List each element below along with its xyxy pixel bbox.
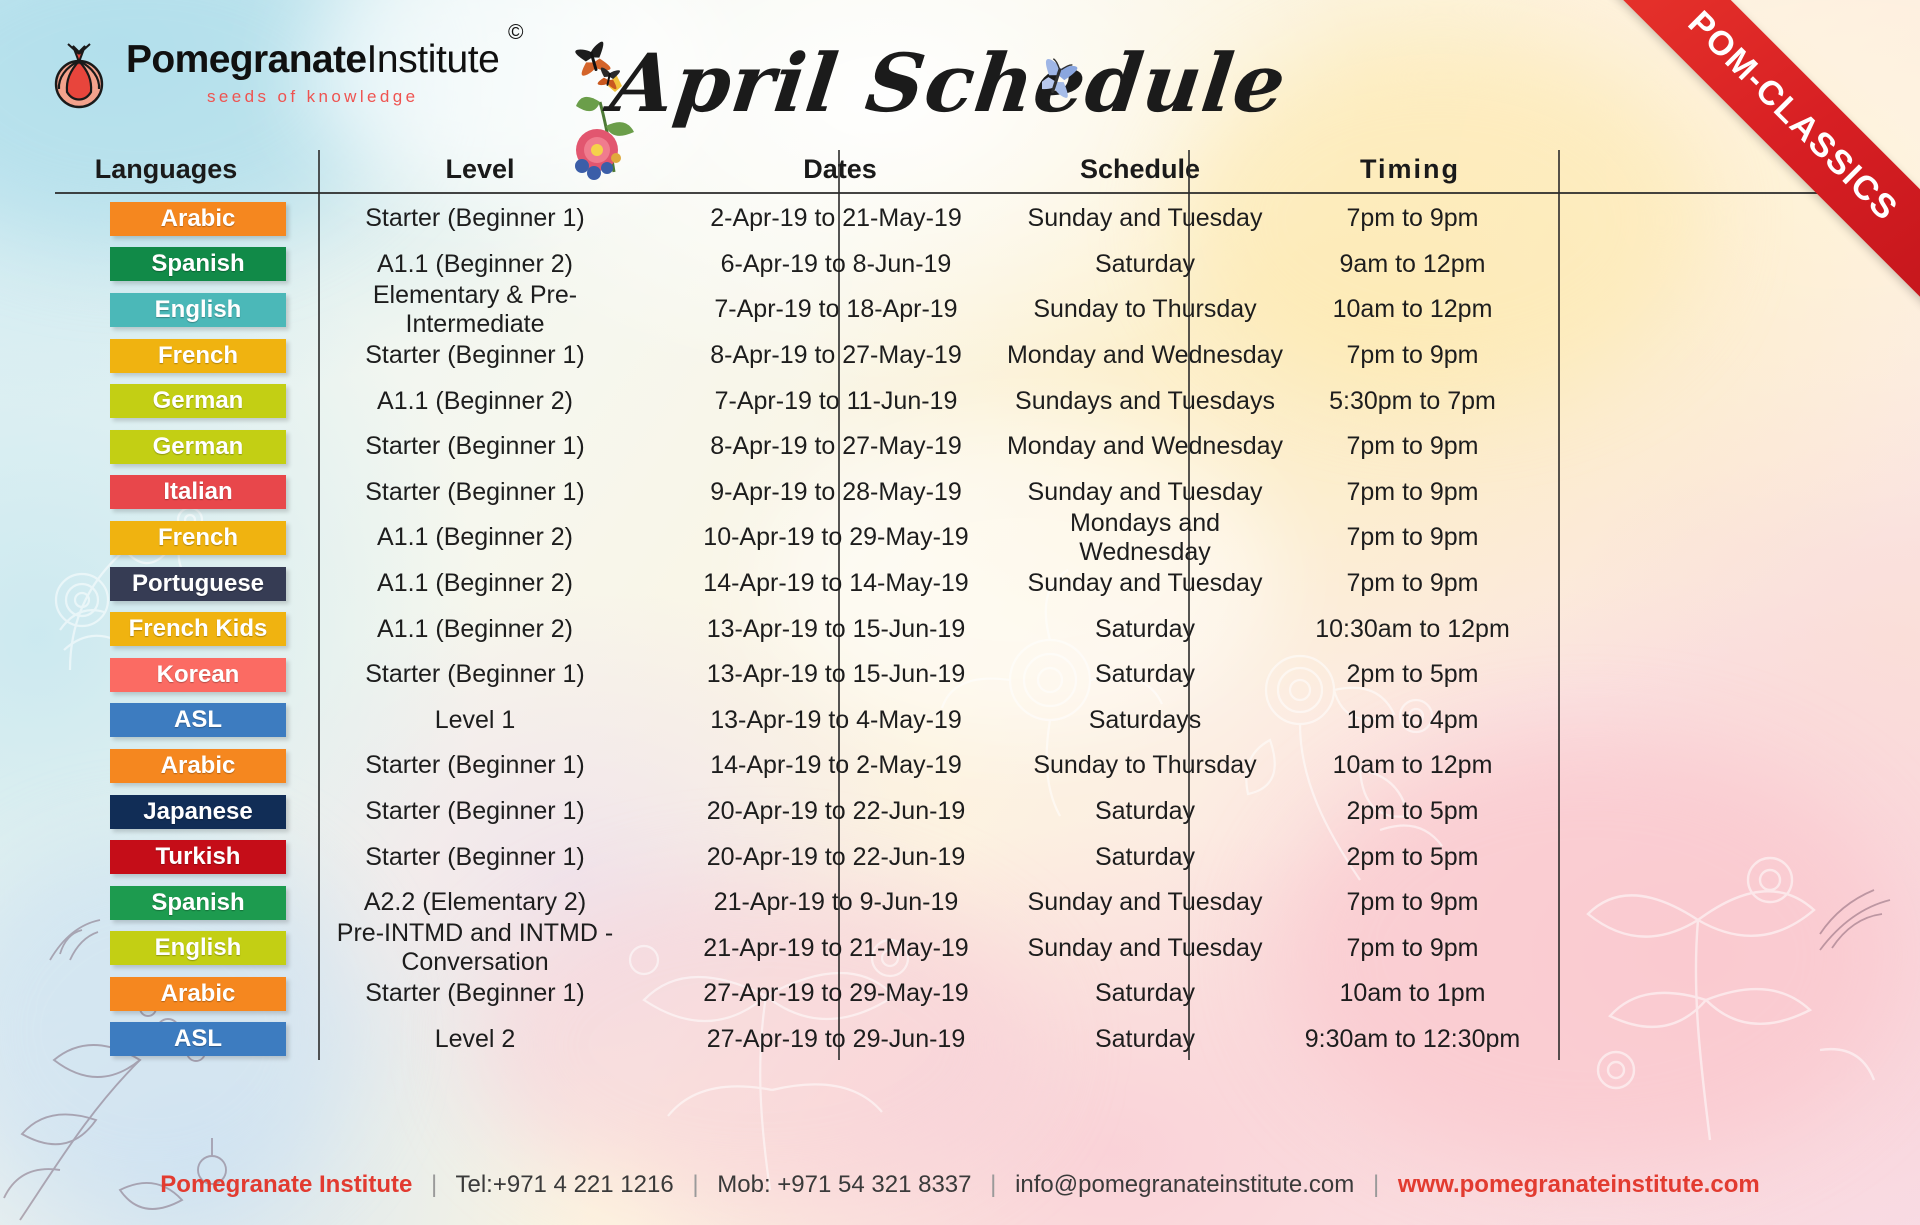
language-badge[interactable]: ASL xyxy=(110,1022,286,1056)
brand-tagline: seeds of knowledge xyxy=(126,87,499,107)
language-badge[interactable]: Turkish xyxy=(110,840,286,874)
title-area: April Schedule xyxy=(560,10,1080,180)
language-badge[interactable]: French Kids xyxy=(110,612,286,646)
dates-cell: 21-Apr-19 to 21-May-19 xyxy=(680,934,992,963)
level-cell: Pre-INTMD and INTMD - Conversation xyxy=(315,919,635,977)
language-cell: German xyxy=(110,384,286,418)
dates-cell: 21-Apr-19 to 9-Jun-19 xyxy=(680,888,992,917)
language-cell: French xyxy=(110,339,286,373)
table-row: FrenchA1.1 (Beginner 2)10-Apr-19 to 29-M… xyxy=(0,515,1920,561)
schedule-cell: Saturday xyxy=(1005,615,1285,644)
ribbon-label: POM-CLASSICS xyxy=(1680,3,1905,228)
schedule-cell: Sunday and Tuesday xyxy=(1005,569,1285,598)
timing-cell: 7pm to 9pm xyxy=(1290,341,1535,370)
dates-cell: 20-Apr-19 to 22-Jun-19 xyxy=(680,797,992,826)
language-badge[interactable]: French xyxy=(110,521,286,555)
footer-separator: | xyxy=(1361,1171,1391,1198)
timing-cell: 2pm to 5pm xyxy=(1290,660,1535,689)
table-row: ArabicStarter (Beginner 1)27-Apr-19 to 2… xyxy=(0,971,1920,1017)
level-cell: Starter (Beginner 1) xyxy=(315,843,635,872)
timing-cell: 7pm to 9pm xyxy=(1290,204,1535,233)
language-cell: French Kids xyxy=(110,612,286,646)
language-badge[interactable]: English xyxy=(110,931,286,965)
table-row: PortugueseA1.1 (Beginner 2)14-Apr-19 to … xyxy=(0,561,1920,607)
language-badge[interactable]: Korean xyxy=(110,658,286,692)
table-row: ItalianStarter (Beginner 1)9-Apr-19 to 2… xyxy=(0,470,1920,516)
language-cell: German xyxy=(110,430,286,464)
level-cell: Level 1 xyxy=(315,706,635,735)
language-cell: ASL xyxy=(110,703,286,737)
footer-separator: | xyxy=(680,1171,710,1198)
footer-website[interactable]: www.pomegranateinstitute.com xyxy=(1398,1171,1760,1198)
table-row: KoreanStarter (Beginner 1)13-Apr-19 to 1… xyxy=(0,652,1920,698)
footer-email[interactable]: info@pomegranateinstitute.com xyxy=(1015,1171,1354,1198)
language-badge[interactable]: Spanish xyxy=(110,886,286,920)
timing-cell: 10:30am to 12pm xyxy=(1290,615,1535,644)
dates-cell: 13-Apr-19 to 4-May-19 xyxy=(680,706,992,735)
butterfly-icon xyxy=(1042,52,1098,113)
footer-separator: | xyxy=(419,1171,449,1198)
language-badge[interactable]: French xyxy=(110,339,286,373)
language-badge[interactable]: Spanish xyxy=(110,247,286,281)
level-cell: Starter (Beginner 1) xyxy=(315,432,635,461)
dates-cell: 13-Apr-19 to 15-Jun-19 xyxy=(680,660,992,689)
language-cell: Arabic xyxy=(110,202,286,236)
dates-cell: 6-Apr-19 to 8-Jun-19 xyxy=(680,250,992,279)
schedule-cell: Saturday xyxy=(1005,797,1285,826)
dates-cell: 9-Apr-19 to 28-May-19 xyxy=(680,478,992,507)
timing-cell: 7pm to 9pm xyxy=(1290,934,1535,963)
timing-cell: 10am to 1pm xyxy=(1290,979,1535,1008)
table-row: ArabicStarter (Beginner 1)14-Apr-19 to 2… xyxy=(0,743,1920,789)
schedule-cell: Sunday and Tuesday xyxy=(1005,888,1285,917)
footer-contact-bar: Pomegranate Institute | Tel:+971 4 221 1… xyxy=(0,1171,1920,1199)
dates-cell: 2-Apr-19 to 21-May-19 xyxy=(680,204,992,233)
dates-cell: 13-Apr-19 to 15-Jun-19 xyxy=(680,615,992,644)
language-cell: Arabic xyxy=(110,749,286,783)
schedule-cell: Sundays and Tuesdays xyxy=(1005,387,1285,416)
dates-cell: 20-Apr-19 to 22-Jun-19 xyxy=(680,843,992,872)
level-cell: Starter (Beginner 1) xyxy=(315,660,635,689)
level-cell: Starter (Beginner 1) xyxy=(315,478,635,507)
schedule-cell: Saturday xyxy=(1005,843,1285,872)
dates-cell: 8-Apr-19 to 27-May-19 xyxy=(680,432,992,461)
language-badge[interactable]: Japanese xyxy=(110,795,286,829)
schedule-cell: Sunday and Tuesday xyxy=(1005,204,1285,233)
page-title: April Schedule xyxy=(606,36,1291,130)
timing-cell: 7pm to 9pm xyxy=(1290,432,1535,461)
timing-cell: 1pm to 4pm xyxy=(1290,706,1535,735)
language-cell: Arabic xyxy=(110,977,286,1011)
dates-cell: 14-Apr-19 to 14-May-19 xyxy=(680,569,992,598)
timing-cell: 10am to 12pm xyxy=(1290,295,1535,324)
language-cell: Spanish xyxy=(110,886,286,920)
level-cell: A1.1 (Beginner 2) xyxy=(315,523,635,552)
timing-cell: 10am to 12pm xyxy=(1290,751,1535,780)
schedule-cell: Saturdays xyxy=(1005,706,1285,735)
language-cell: Italian xyxy=(110,475,286,509)
language-cell: Portuguese xyxy=(110,567,286,601)
brand-name-light: Institute xyxy=(366,38,499,81)
table-row: GermanA1.1 (Beginner 2)7-Apr-19 to 11-Ju… xyxy=(0,378,1920,424)
schedule-cell: Saturday xyxy=(1005,250,1285,279)
brand-name-bold: Pomegranate xyxy=(126,38,366,81)
table-row: EnglishPre-INTMD and INTMD - Conversatio… xyxy=(0,926,1920,972)
dates-cell: 27-Apr-19 to 29-May-19 xyxy=(680,979,992,1008)
dates-cell: 7-Apr-19 to 11-Jun-19 xyxy=(680,387,992,416)
timing-cell: 2pm to 5pm xyxy=(1290,843,1535,872)
language-badge[interactable]: ASL xyxy=(110,703,286,737)
language-cell: Japanese xyxy=(110,795,286,829)
schedule-cell: Sunday and Tuesday xyxy=(1005,934,1285,963)
dates-cell: 8-Apr-19 to 27-May-19 xyxy=(680,341,992,370)
language-badge[interactable]: German xyxy=(110,430,286,464)
level-cell: Elementary & Pre-Intermediate xyxy=(315,281,635,339)
brand-logo: PomegranateInstitute © seeds of knowledg… xyxy=(46,36,499,110)
schedule-cell: Monday and Wednesday xyxy=(1005,341,1285,370)
footer-brand: Pomegranate Institute xyxy=(160,1171,412,1198)
timing-cell: 9:30am to 12:30pm xyxy=(1290,1025,1535,1054)
language-cell: English xyxy=(110,931,286,965)
level-cell: A2.2 (Elementary 2) xyxy=(315,888,635,917)
level-cell: A1.1 (Beginner 2) xyxy=(315,387,635,416)
table-row: ASLLevel 113-Apr-19 to 4-May-19Saturdays… xyxy=(0,698,1920,744)
table-row: JapaneseStarter (Beginner 1)20-Apr-19 to… xyxy=(0,789,1920,835)
level-cell: A1.1 (Beginner 2) xyxy=(315,250,635,279)
timing-cell: 9am to 12pm xyxy=(1290,250,1535,279)
language-cell: English xyxy=(110,293,286,327)
schedule-cell: Saturday xyxy=(1005,1025,1285,1054)
language-badge[interactable]: Arabic xyxy=(110,977,286,1011)
schedule-cell: Sunday and Tuesday xyxy=(1005,478,1285,507)
timing-cell: 5:30pm to 7pm xyxy=(1290,387,1535,416)
footer-mobile[interactable]: Mob: +971 54 321 8337 xyxy=(717,1171,971,1198)
level-cell: Starter (Beginner 1) xyxy=(315,797,635,826)
language-badge[interactable]: Portuguese xyxy=(110,567,286,601)
level-cell: A1.1 (Beginner 2) xyxy=(315,569,635,598)
schedule-cell: Mondays and Wednesday xyxy=(1005,509,1285,567)
timing-cell: 2pm to 5pm xyxy=(1290,797,1535,826)
table-row: French KidsA1.1 (Beginner 2)13-Apr-19 to… xyxy=(0,606,1920,652)
table-row: SpanishA2.2 (Elementary 2)21-Apr-19 to 9… xyxy=(0,880,1920,926)
schedule-cell: Saturday xyxy=(1005,979,1285,1008)
schedule-cell: Saturday xyxy=(1005,660,1285,689)
level-cell: Level 2 xyxy=(315,1025,635,1054)
level-cell: Starter (Beginner 1) xyxy=(315,204,635,233)
dates-cell: 14-Apr-19 to 2-May-19 xyxy=(680,751,992,780)
language-badge[interactable]: Arabic xyxy=(110,749,286,783)
table-row: ASLLevel 227-Apr-19 to 29-Jun-19Saturday… xyxy=(0,1017,1920,1063)
language-badge[interactable]: English xyxy=(110,293,286,327)
language-cell: French xyxy=(110,521,286,555)
level-cell: A1.1 (Beginner 2) xyxy=(315,615,635,644)
language-cell: Spanish xyxy=(110,247,286,281)
timing-cell: 7pm to 9pm xyxy=(1290,888,1535,917)
level-cell: Starter (Beginner 1) xyxy=(315,751,635,780)
language-badge[interactable]: Italian xyxy=(110,475,286,509)
language-badge[interactable]: Arabic xyxy=(110,202,286,236)
language-badge[interactable]: German xyxy=(110,384,286,418)
timing-cell: 7pm to 9pm xyxy=(1290,523,1535,552)
footer-tel[interactable]: Tel:+971 4 221 1216 xyxy=(455,1171,673,1198)
pomegranate-icon xyxy=(46,40,112,110)
dates-cell: 27-Apr-19 to 29-Jun-19 xyxy=(680,1025,992,1054)
level-cell: Starter (Beginner 1) xyxy=(315,979,635,1008)
timing-cell: 7pm to 9pm xyxy=(1290,569,1535,598)
schedule-cell: Monday and Wednesday xyxy=(1005,432,1285,461)
schedule-cell: Sunday to Thursday xyxy=(1005,295,1285,324)
language-cell: ASL xyxy=(110,1022,286,1056)
level-cell: Starter (Beginner 1) xyxy=(315,341,635,370)
footer-separator: | xyxy=(978,1171,1008,1198)
dates-cell: 7-Apr-19 to 18-Apr-19 xyxy=(680,295,992,324)
table-row: GermanStarter (Beginner 1)8-Apr-19 to 27… xyxy=(0,424,1920,470)
dates-cell: 10-Apr-19 to 29-May-19 xyxy=(680,523,992,552)
language-cell: Korean xyxy=(110,658,286,692)
table-row: TurkishStarter (Beginner 1)20-Apr-19 to … xyxy=(0,834,1920,880)
language-cell: Turkish xyxy=(110,840,286,874)
corner-ribbon: POM-CLASSICS xyxy=(1590,0,1920,330)
table-row: FrenchStarter (Beginner 1)8-Apr-19 to 27… xyxy=(0,333,1920,379)
schedule-cell: Sunday to Thursday xyxy=(1005,751,1285,780)
timing-cell: 7pm to 9pm xyxy=(1290,478,1535,507)
copyright-symbol: © xyxy=(508,22,523,43)
